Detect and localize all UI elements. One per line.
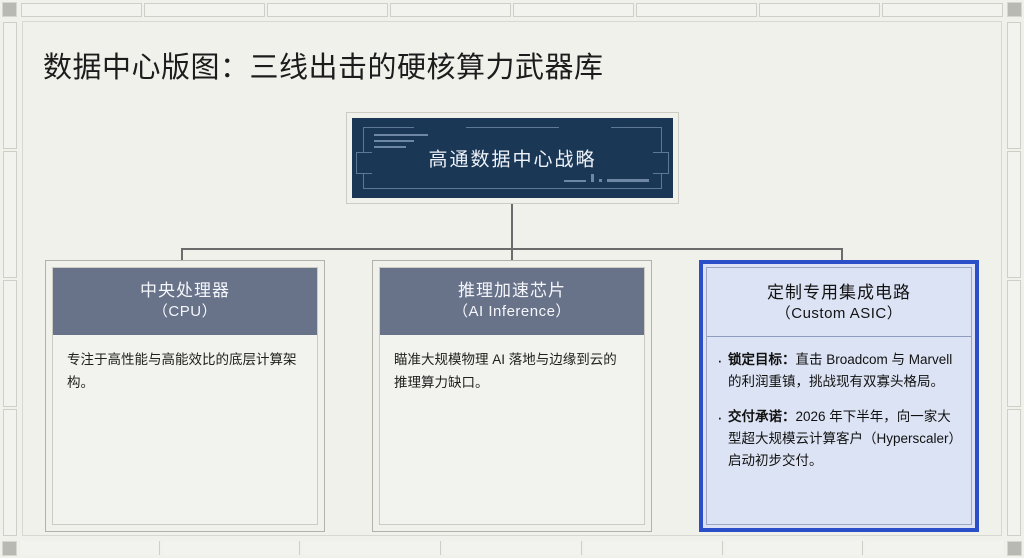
asic-bullet-label: 交付承诺： [728,409,796,424]
row-header-cell[interactable] [1007,409,1021,536]
card-cpu-header: 中央处理器 （CPU） [53,268,317,335]
bottom-bar-cell[interactable] [584,541,723,555]
column-header-cell[interactable] [390,3,511,17]
bottom-bar-cell[interactable] [865,541,1003,555]
bottom-bar-cell[interactable] [725,541,864,555]
corner-handle-top-left[interactable] [2,2,17,17]
bottom-bar-cell[interactable] [21,541,160,555]
card-custom-asic-body: 锁定目标：直击 Broadcom 与 Marvell 的利润重镇，挑战现有双寡头… [707,337,971,524]
column-header-cell[interactable] [636,3,757,17]
card-ai-inference-title-cn: 推理加速芯片 [386,280,638,302]
row-header-cell[interactable] [3,409,17,536]
frame-notch-top-left-icon [414,126,466,129]
card-cpu-title-en: （CPU） [59,302,311,322]
slide-canvas: 数据中心版图：三线出击的硬核算力武器库 高通数据中心战略 [22,21,1002,536]
card-cpu[interactable]: 中央处理器 （CPU） 专注于高性能与高能效比的底层计算架构。 [45,260,325,532]
asic-bullet-item: 交付承诺：2026 年下半年，向一家大型超大规模云计算客户（Hyperscale… [717,406,959,472]
corner-handle-bottom-right[interactable] [1007,541,1022,556]
card-custom-asic-header: 定制专用集成电路 （Custom ASIC） [707,268,971,337]
card-ai-inference-inner: 推理加速芯片 （AI Inference） 瞄准大规模物理 AI 落地与边缘到云… [379,267,645,525]
row-header-cell[interactable] [1007,280,1021,407]
column-header-cell[interactable] [144,3,265,17]
row-header-cell[interactable] [1007,22,1021,149]
frame-notch-top-right-icon [559,126,611,129]
bottom-status-bar[interactable] [21,541,1003,555]
tech-dashes-icon [564,174,649,182]
row-header-cell[interactable] [3,280,17,407]
row-header-cell[interactable] [3,22,17,149]
card-cpu-title-cn: 中央处理器 [59,280,311,302]
asic-bullet-label: 锁定目标： [728,352,796,367]
card-ai-inference-title-en: （AI Inference） [386,302,638,322]
card-row: 中央处理器 （CPU） 专注于高性能与高能效比的底层计算架构。 推理加速芯片 （… [45,260,979,532]
card-ai-inference-header: 推理加速芯片 （AI Inference） [380,268,644,335]
corner-handle-top-right[interactable] [1007,2,1022,17]
column-header-cell[interactable] [513,3,634,17]
corner-handle-bottom-left[interactable] [2,541,17,556]
card-custom-asic-title-en: （Custom ASIC） [713,304,965,324]
card-cpu-body: 专注于高性能与高能效比的底层计算架构。 [53,335,317,524]
row-header-bar-right[interactable] [1007,22,1021,536]
card-ai-inference-body: 瞄准大规模物理 AI 落地与边缘到云的推理算力缺口。 [380,335,644,524]
row-header-cell[interactable] [3,151,17,278]
card-custom-asic[interactable]: 定制专用集成电路 （Custom ASIC） 锁定目标：直击 Broadcom … [699,260,979,532]
page-title: 数据中心版图：三线出击的硬核算力武器库 [43,44,604,86]
application-window: 数据中心版图：三线出击的硬核算力武器库 高通数据中心战略 [0,0,1024,558]
column-header-cell[interactable] [882,3,1003,17]
column-header-cell[interactable] [759,3,880,17]
row-header-bar-left[interactable] [3,22,17,536]
card-cpu-inner: 中央处理器 （CPU） 专注于高性能与高能效比的底层计算架构。 [52,267,318,525]
card-ai-inference[interactable]: 推理加速芯片 （AI Inference） 瞄准大规模物理 AI 落地与边缘到云… [372,260,652,532]
row-header-cell[interactable] [1007,151,1021,278]
root-node-label: 高通数据中心战略 [352,145,673,172]
bottom-bar-cell[interactable] [443,541,582,555]
bottom-bar-cell[interactable] [302,541,441,555]
column-header-cell[interactable] [21,3,142,17]
card-custom-asic-inner: 定制专用集成电路 （Custom ASIC） 锁定目标：直击 Broadcom … [706,267,972,525]
column-header-bar[interactable] [21,3,1003,17]
asic-bullet-item: 锁定目标：直击 Broadcom 与 Marvell 的利润重镇，挑战现有双寡头… [717,349,959,393]
asic-bullet-list: 锁定目标：直击 Broadcom 与 Marvell 的利润重镇，挑战现有双寡头… [717,349,959,471]
bottom-bar-cell[interactable] [162,541,301,555]
column-header-cell[interactable] [267,3,388,17]
connector-root-vertical [511,204,513,248]
card-custom-asic-title-cn: 定制专用集成电路 [713,282,965,304]
root-node-strategy[interactable]: 高通数据中心战略 [346,112,679,204]
root-node-inner: 高通数据中心战略 [352,118,673,198]
